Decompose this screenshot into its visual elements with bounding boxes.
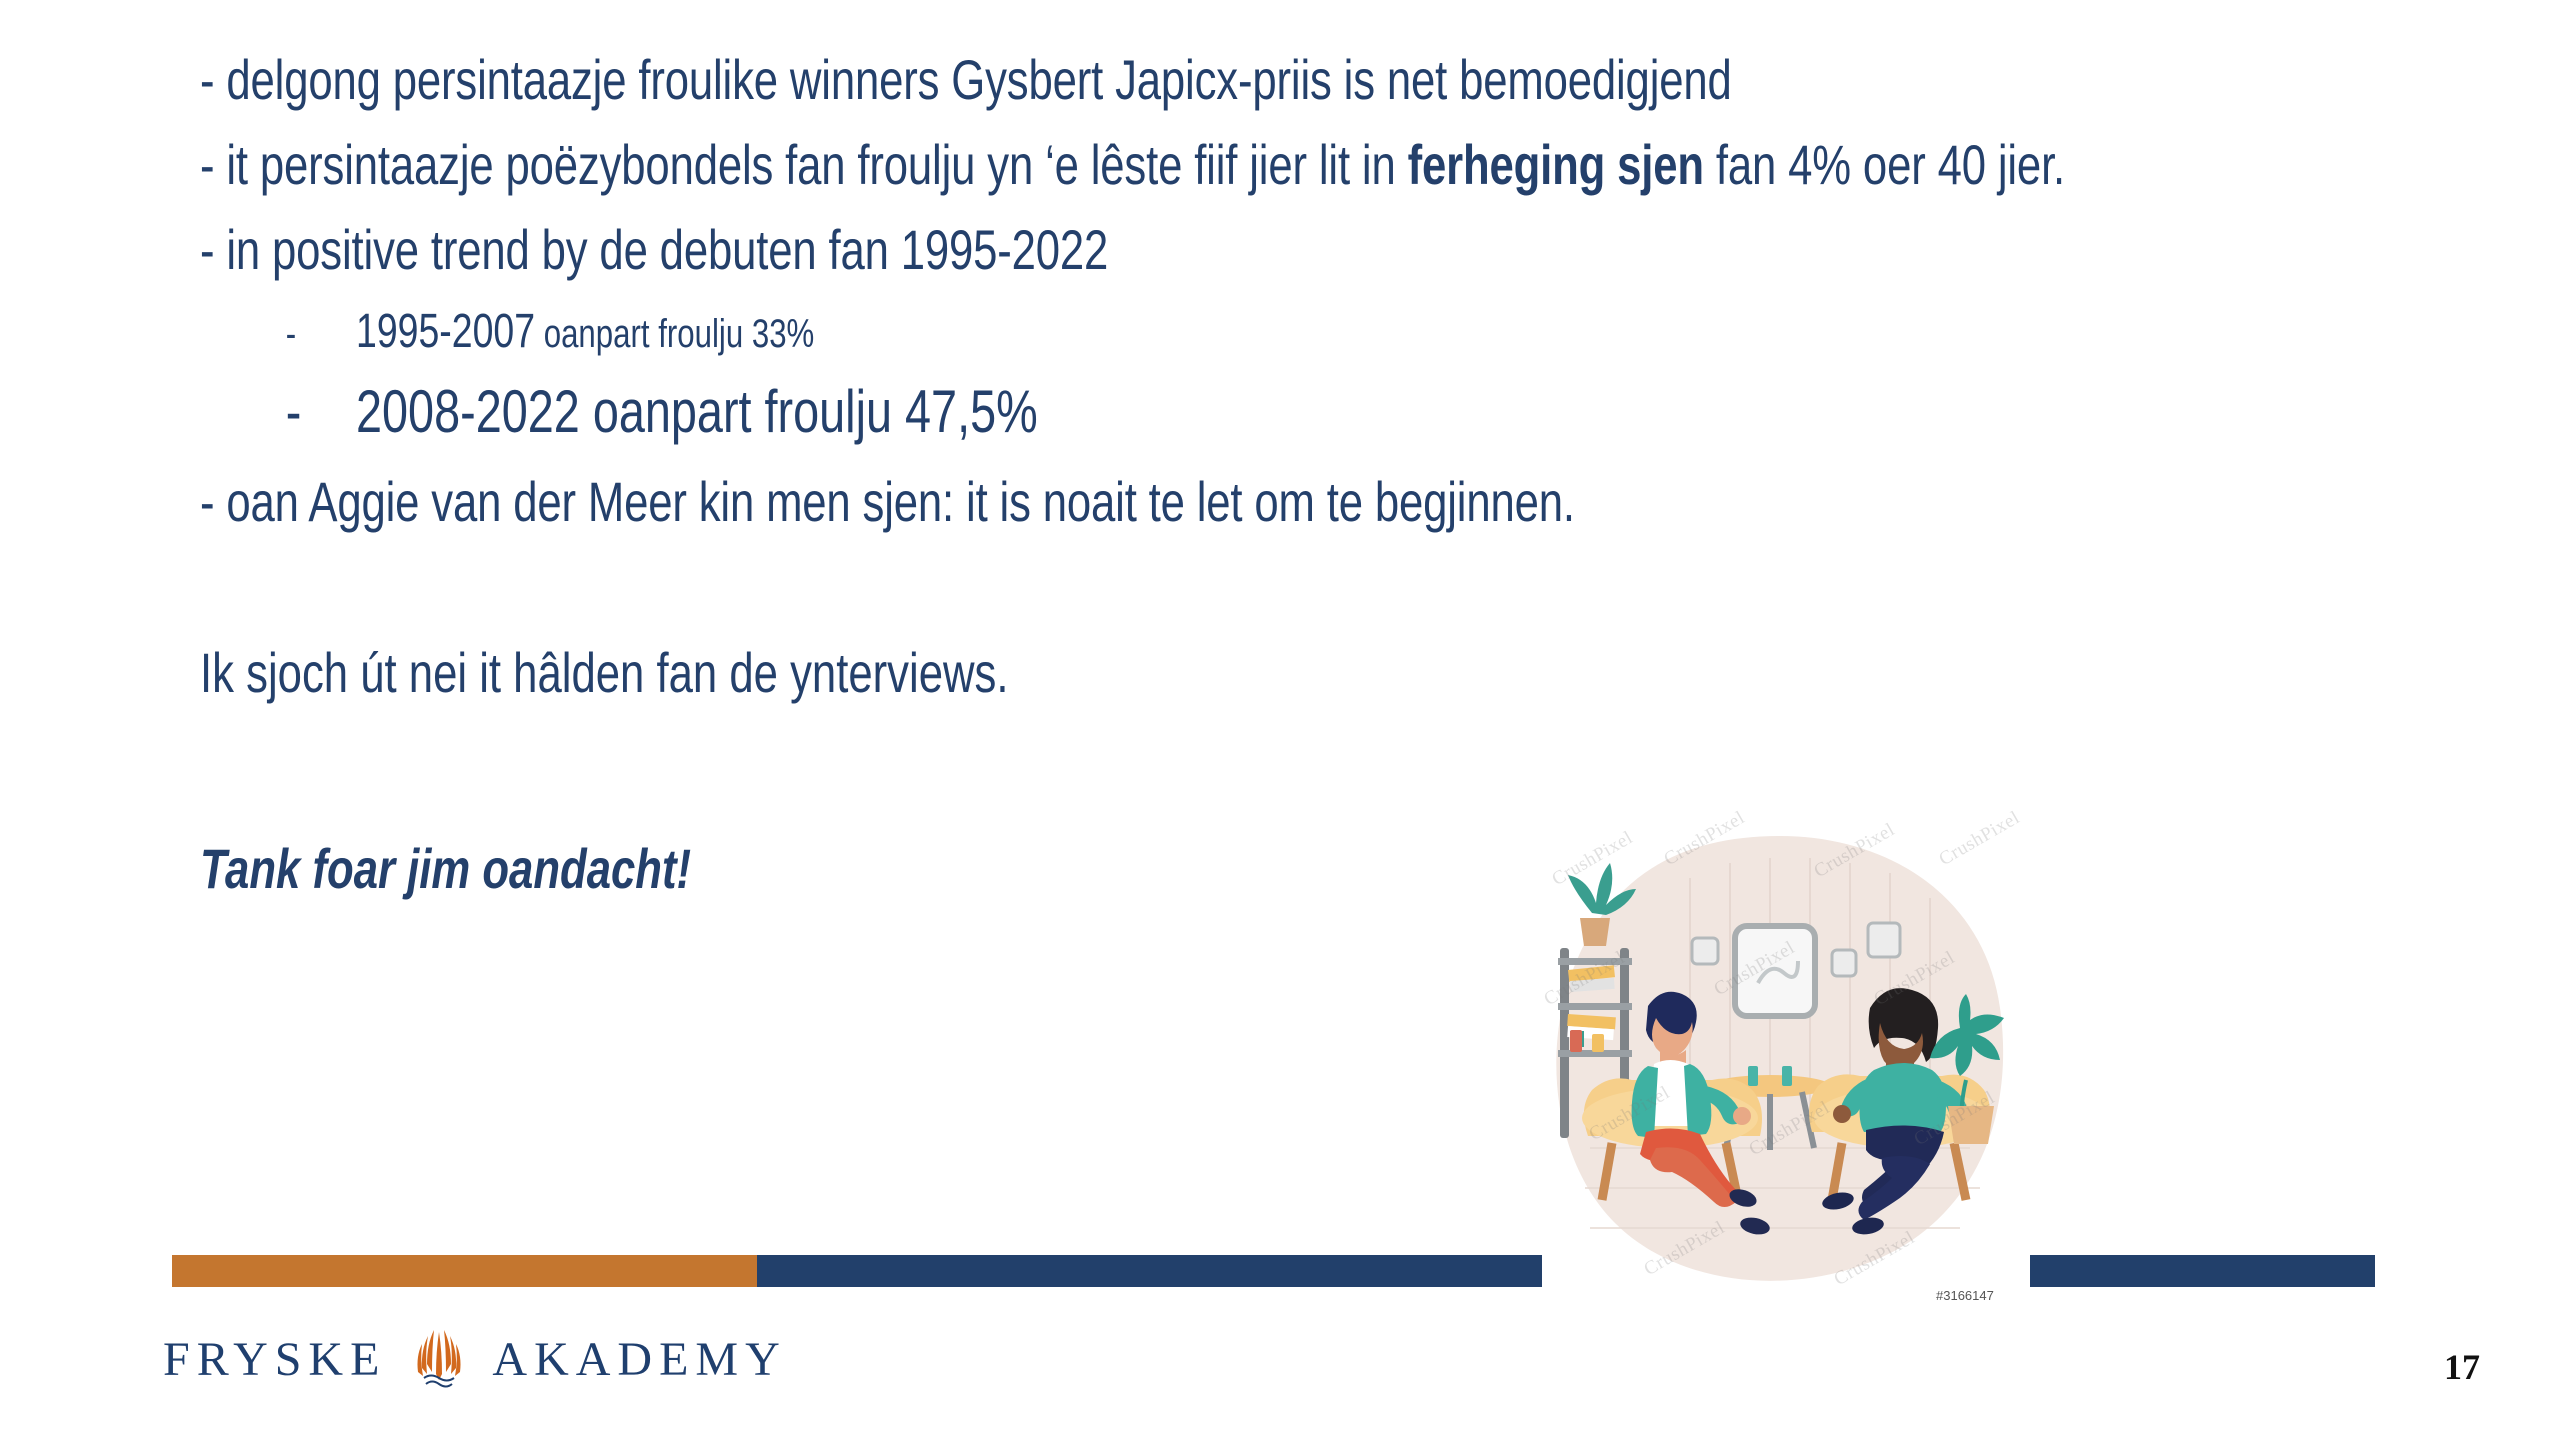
- sub-bullet-1-label: oanpart froulju 33%: [535, 312, 814, 356]
- fryske-akademy-wing-emblem: [412, 1328, 466, 1390]
- closing-line: Ik sjoch út nei it hâlden fan de yntervi…: [200, 641, 2317, 706]
- sub-bullet-1-dash: -: [200, 310, 356, 358]
- logo-word-left: FRYSKE: [163, 1332, 386, 1387]
- footer-bar-navy-right: [2030, 1255, 2375, 1287]
- conversation-illustration: CrushPixel CrushPixel CrushPixel CrushPi…: [1530, 818, 2030, 1308]
- bullet-item-4: - oan Aggie van der Meer kin men sjen: i…: [200, 470, 2317, 535]
- bullet-2-lead: - it persintaazje poëzybondels fan froul…: [200, 133, 1408, 196]
- page-number: 17: [2444, 1346, 2480, 1388]
- bullet-2-bold: ferheging sjen: [1408, 133, 1704, 196]
- bullet-item-3: - in positive trend by de debuten fan 19…: [200, 218, 2317, 283]
- footer-bar-navy-left: [757, 1255, 1542, 1287]
- bullet-item-2: - it persintaazje poëzybondels fan froul…: [200, 133, 2317, 198]
- bullet-item-1: - delgong persintaazje froulike winners …: [200, 48, 2317, 113]
- sub-bullet-1-text: 1995-2007 oanpart froulju 33%: [356, 303, 814, 361]
- sub-bullet-1-years: 1995-2007: [356, 305, 535, 358]
- sub-bullet-2-years: 2008-2022: [356, 378, 580, 445]
- slide-canvas: - delgong persintaazje froulike winners …: [0, 0, 2560, 1440]
- footer-bar-orange: [172, 1255, 757, 1287]
- sub-bullet-item-1: - 1995-2007 oanpart froulju 33%: [200, 303, 2317, 361]
- sub-bullet-item-2: - 2008-2022 oanpart froulju 47,5%: [200, 376, 2317, 448]
- fryske-akademy-logo: FRYSKE AKADEMY: [163, 1328, 787, 1390]
- sub-bullet-2-dash: -: [200, 376, 356, 448]
- content-spacer-1: [200, 555, 2320, 641]
- slide-content: - delgong persintaazje froulike winners …: [200, 48, 2320, 900]
- logo-word-right: AKADEMY: [492, 1332, 786, 1387]
- illustration-stock-id: #3166147: [1936, 1288, 1994, 1303]
- sub-bullet-2-text: 2008-2022 oanpart froulju 47,5%: [356, 376, 1038, 448]
- bullet-2-tail: fan 4% oer 40 jier.: [1704, 133, 2065, 196]
- sub-bullet-2-label: oanpart froulju 47,5%: [580, 378, 1038, 445]
